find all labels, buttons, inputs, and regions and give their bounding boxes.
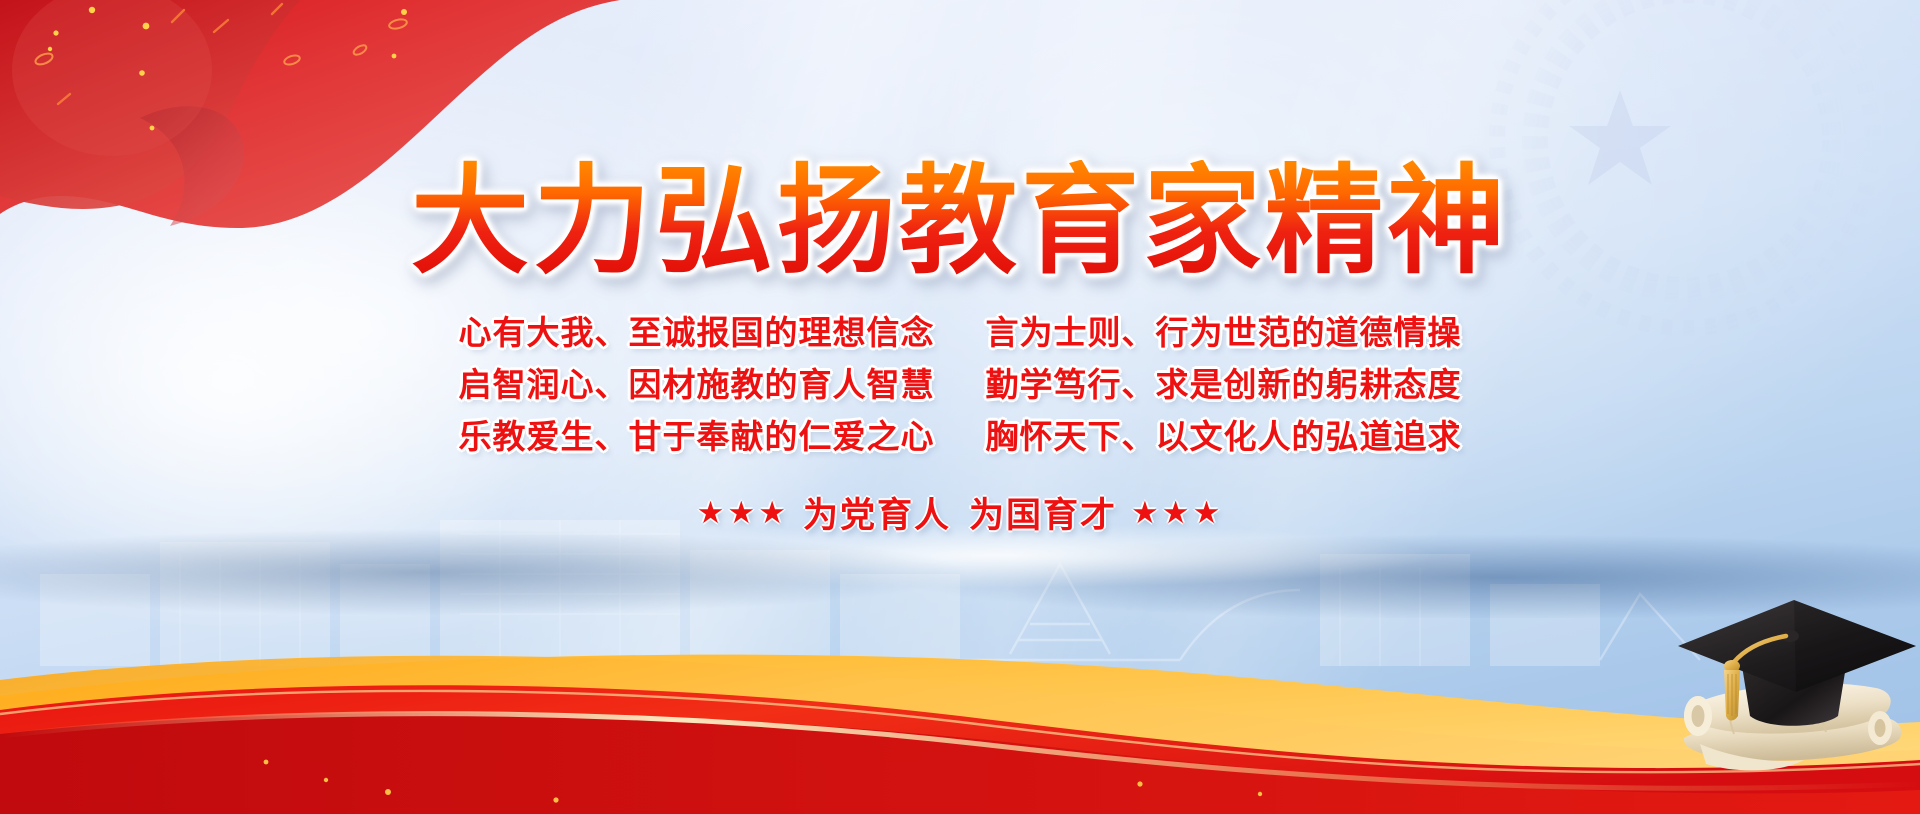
slogan-text: 为党育人 为国育才 (803, 487, 1117, 538)
banner-content: 大力弘扬教育家精神 心有大我、至诚报国的理想信念 言为士则、行为世范的道德情操 … (0, 0, 1920, 814)
subtitle-line-3-left: 乐教爱生、甘于奉献的仁爱之心 (459, 417, 935, 456)
subtitle-line-1-right: 言为士则、行为世范的道德情操 (986, 313, 1462, 352)
stars-right-icon: ★★★ (1131, 495, 1223, 531)
subtitle-line-1: 心有大我、至诚报国的理想信念 言为士则、行为世范的道德情操 (459, 313, 1462, 353)
subtitle-line-2: 启智润心、因材施教的育人智慧 勤学笃行、求是创新的躬耕态度 (459, 365, 1462, 405)
stars-left-icon: ★★★ (697, 495, 789, 531)
subtitle-line-3-right: 胸怀天下、以文化人的弘道追求 (986, 417, 1462, 456)
slogan-line: ★★★ 为党育人 为国育才 ★★★ (697, 487, 1224, 538)
subtitle-line-2-right: 勤学笃行、求是创新的躬耕态度 (986, 365, 1462, 404)
slogan-part-1: 为党育人 (803, 487, 951, 538)
education-spirit-banner: 大力弘扬教育家精神 心有大我、至诚报国的理想信念 言为士则、行为世范的道德情操 … (0, 0, 1920, 814)
subtitle-line-3: 乐教爱生、甘于奉献的仁爱之心 胸怀天下、以文化人的弘道追求 (459, 417, 1462, 457)
subtitle-block: 心有大我、至诚报国的理想信念 言为士则、行为世范的道德情操 启智润心、因材施教的… (459, 313, 1462, 458)
subtitle-line-2-left: 启智润心、因材施教的育人智慧 (459, 365, 935, 404)
slogan-part-2: 为国育才 (969, 487, 1117, 538)
page-title: 大力弘扬教育家精神 (411, 160, 1509, 283)
subtitle-line-1-left: 心有大我、至诚报国的理想信念 (459, 313, 935, 352)
